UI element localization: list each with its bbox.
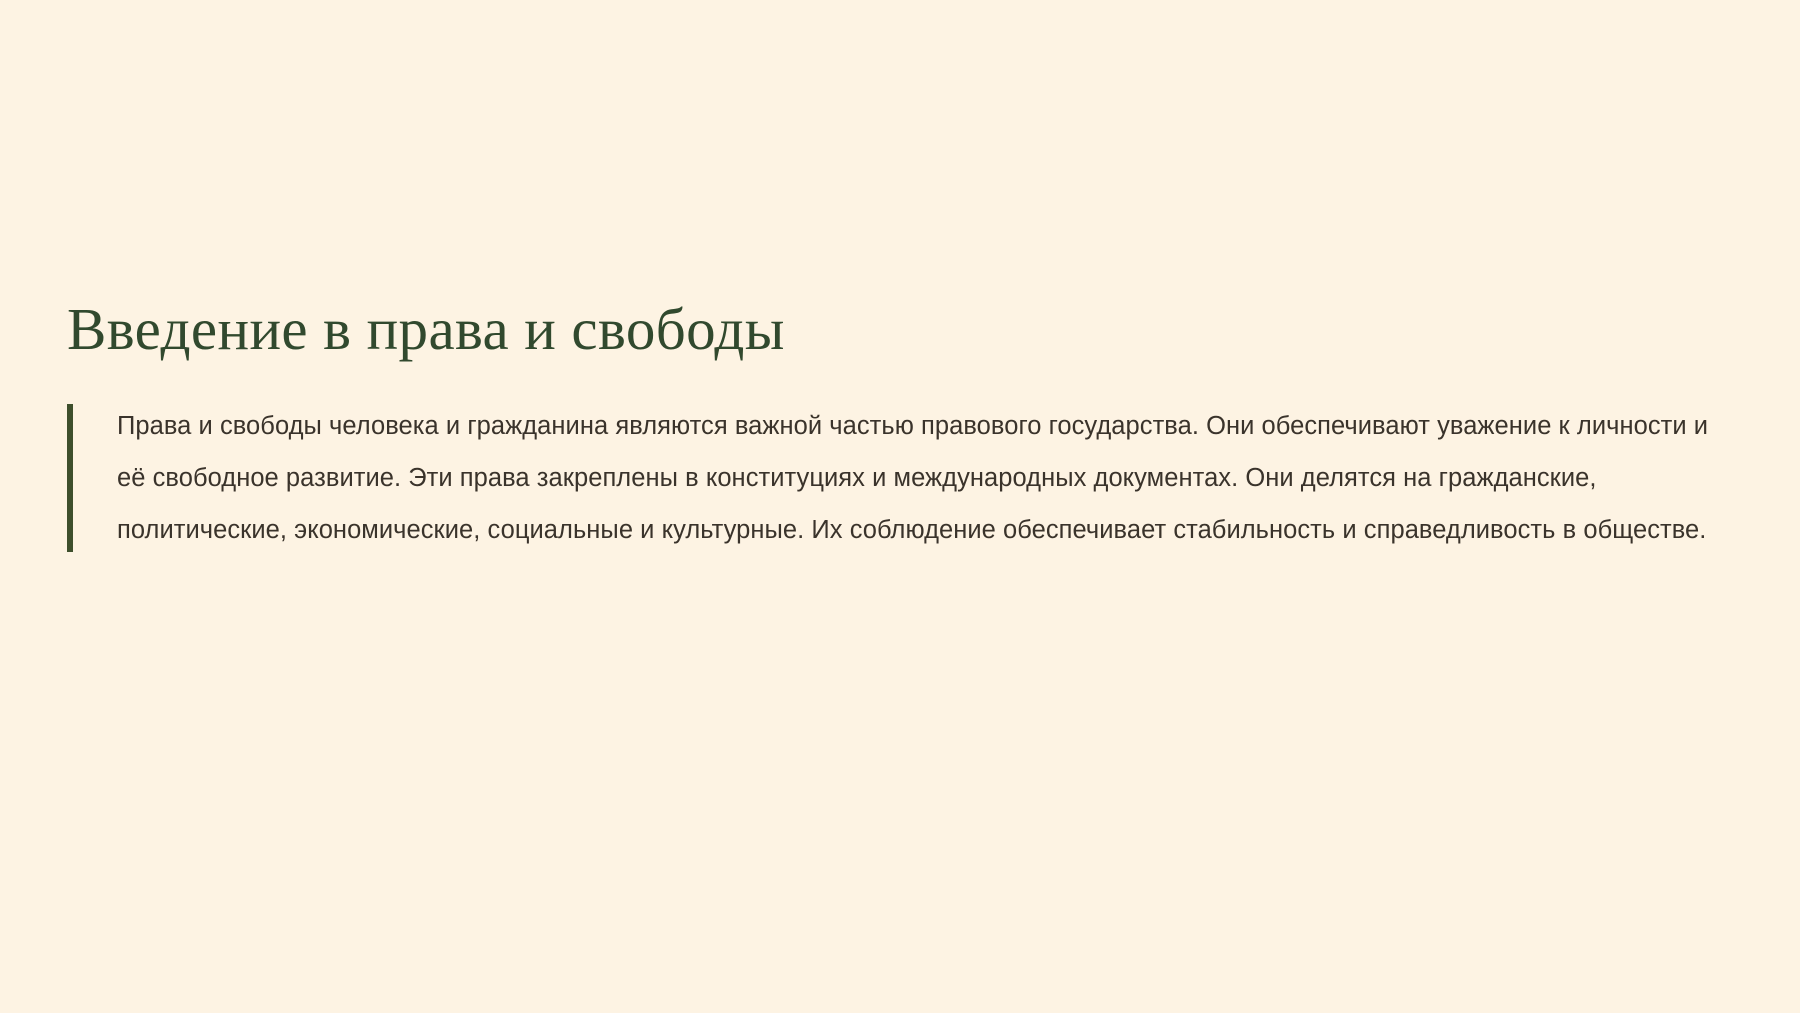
accent-bar: [67, 404, 73, 552]
page-title: Введение в права и свободы: [67, 296, 1727, 362]
content-block: Введение в права и свободы Права и свобо…: [67, 296, 1727, 556]
body-paragraph: Права и свободы человека и гражданина яв…: [117, 400, 1727, 556]
slide-canvas: Введение в права и свободы Права и свобо…: [0, 0, 1800, 1013]
quote-block: Права и свободы человека и гражданина яв…: [67, 400, 1727, 556]
